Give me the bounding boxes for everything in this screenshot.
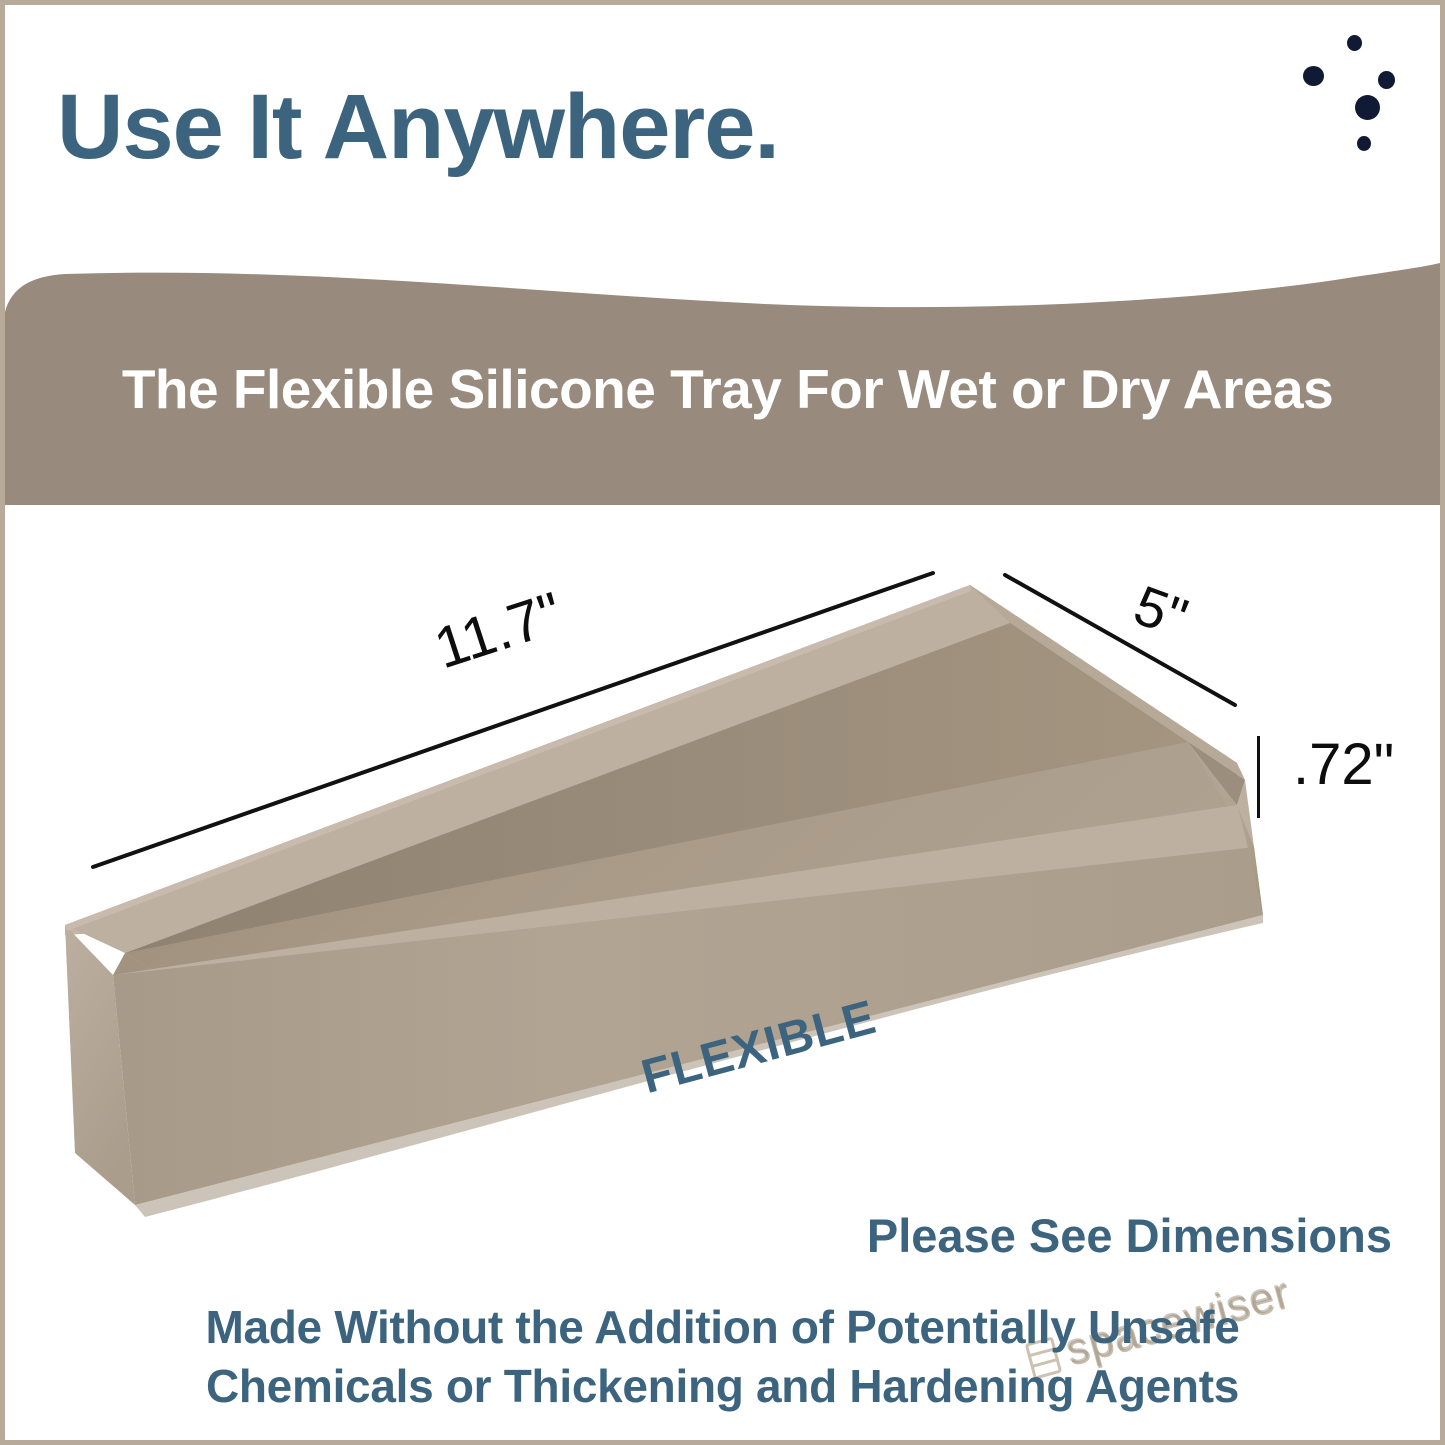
dot-cluster-decoration (1295, 33, 1435, 163)
dimension-height-label: .72" (1293, 731, 1394, 798)
subtitle-text: The Flexible Silicone Tray For Wet or Dr… (5, 357, 1445, 421)
product-infographic-canvas: Use It Anywhere. The Flexible Silicone T… (0, 0, 1445, 1445)
page-title: Use It Anywhere. (57, 81, 779, 173)
safety-claim-line-1: Made Without the Addition of Potentially… (5, 1298, 1440, 1357)
decor-dot-icon (1347, 35, 1362, 51)
subtitle-banner: The Flexible Silicone Tray For Wet or Dr… (5, 260, 1445, 505)
safety-claim: Made Without the Addition of Potentially… (5, 1298, 1440, 1416)
dimension-height-marker (1257, 736, 1260, 818)
product-illustration: spacewiser spacewiser (5, 505, 1445, 1265)
safety-claim-line-2: Chemicals or Thickening and Hardening Ag… (5, 1357, 1440, 1416)
decor-dot-icon (1355, 95, 1380, 120)
decor-dot-icon (1357, 136, 1371, 151)
decor-dot-icon (1303, 66, 1324, 86)
see-dimensions-note: Please See Dimensions (867, 1208, 1392, 1263)
decor-dot-icon (1378, 71, 1395, 89)
